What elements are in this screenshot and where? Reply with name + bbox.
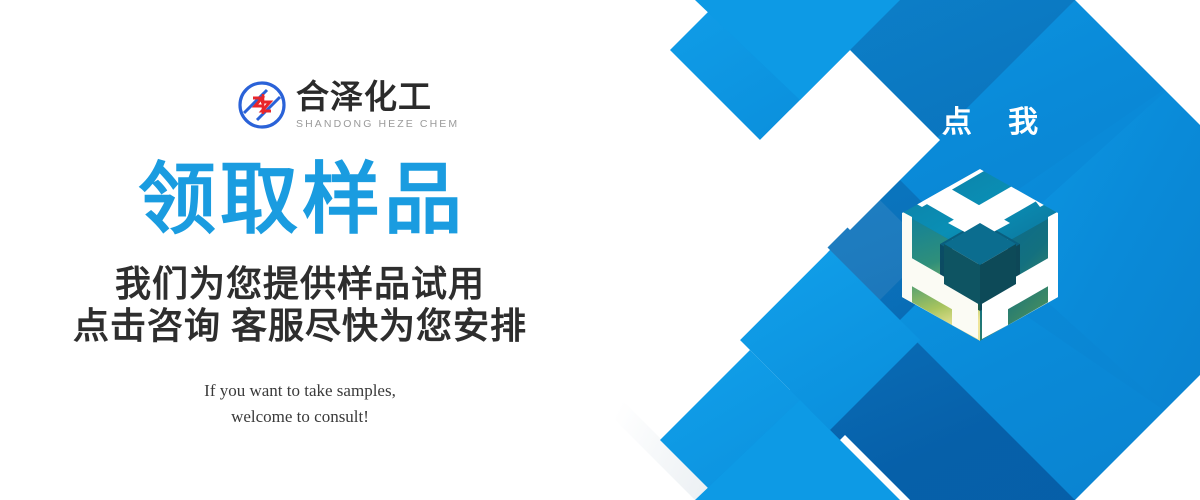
page-title: 领取样品 xyxy=(0,160,600,238)
english-caption-line-1: If you want to take samples, xyxy=(0,378,600,404)
english-caption: If you want to take samples, welcome to … xyxy=(0,378,600,431)
click-me-label[interactable]: 点 我 xyxy=(915,108,1065,138)
heze-chem-circular-monogram-icon xyxy=(237,80,287,130)
brand-logo: 合泽化工 SHANDONG HEZE CHEM xyxy=(237,80,459,130)
subheading-line-1: 我们为您提供样品试用 xyxy=(0,263,600,306)
brand-name-block: 合泽化工 SHANDONG HEZE CHEM xyxy=(296,80,459,130)
isometric-hash-cube-icon[interactable] xyxy=(888,163,1072,347)
english-caption-line-2: welcome to consult! xyxy=(0,404,600,430)
subheading-line-2: 点击咨询 客服尽快为您安排 xyxy=(0,305,600,348)
promo-content: 合泽化工 SHANDONG HEZE CHEM 领取样品 我们为您提供样品试用 … xyxy=(0,0,600,500)
brand-name-en: SHANDONG HEZE CHEM xyxy=(296,118,459,130)
brand-name-cn: 合泽化工 xyxy=(296,80,459,115)
sample-request-banner: 点 我 xyxy=(0,0,1200,500)
